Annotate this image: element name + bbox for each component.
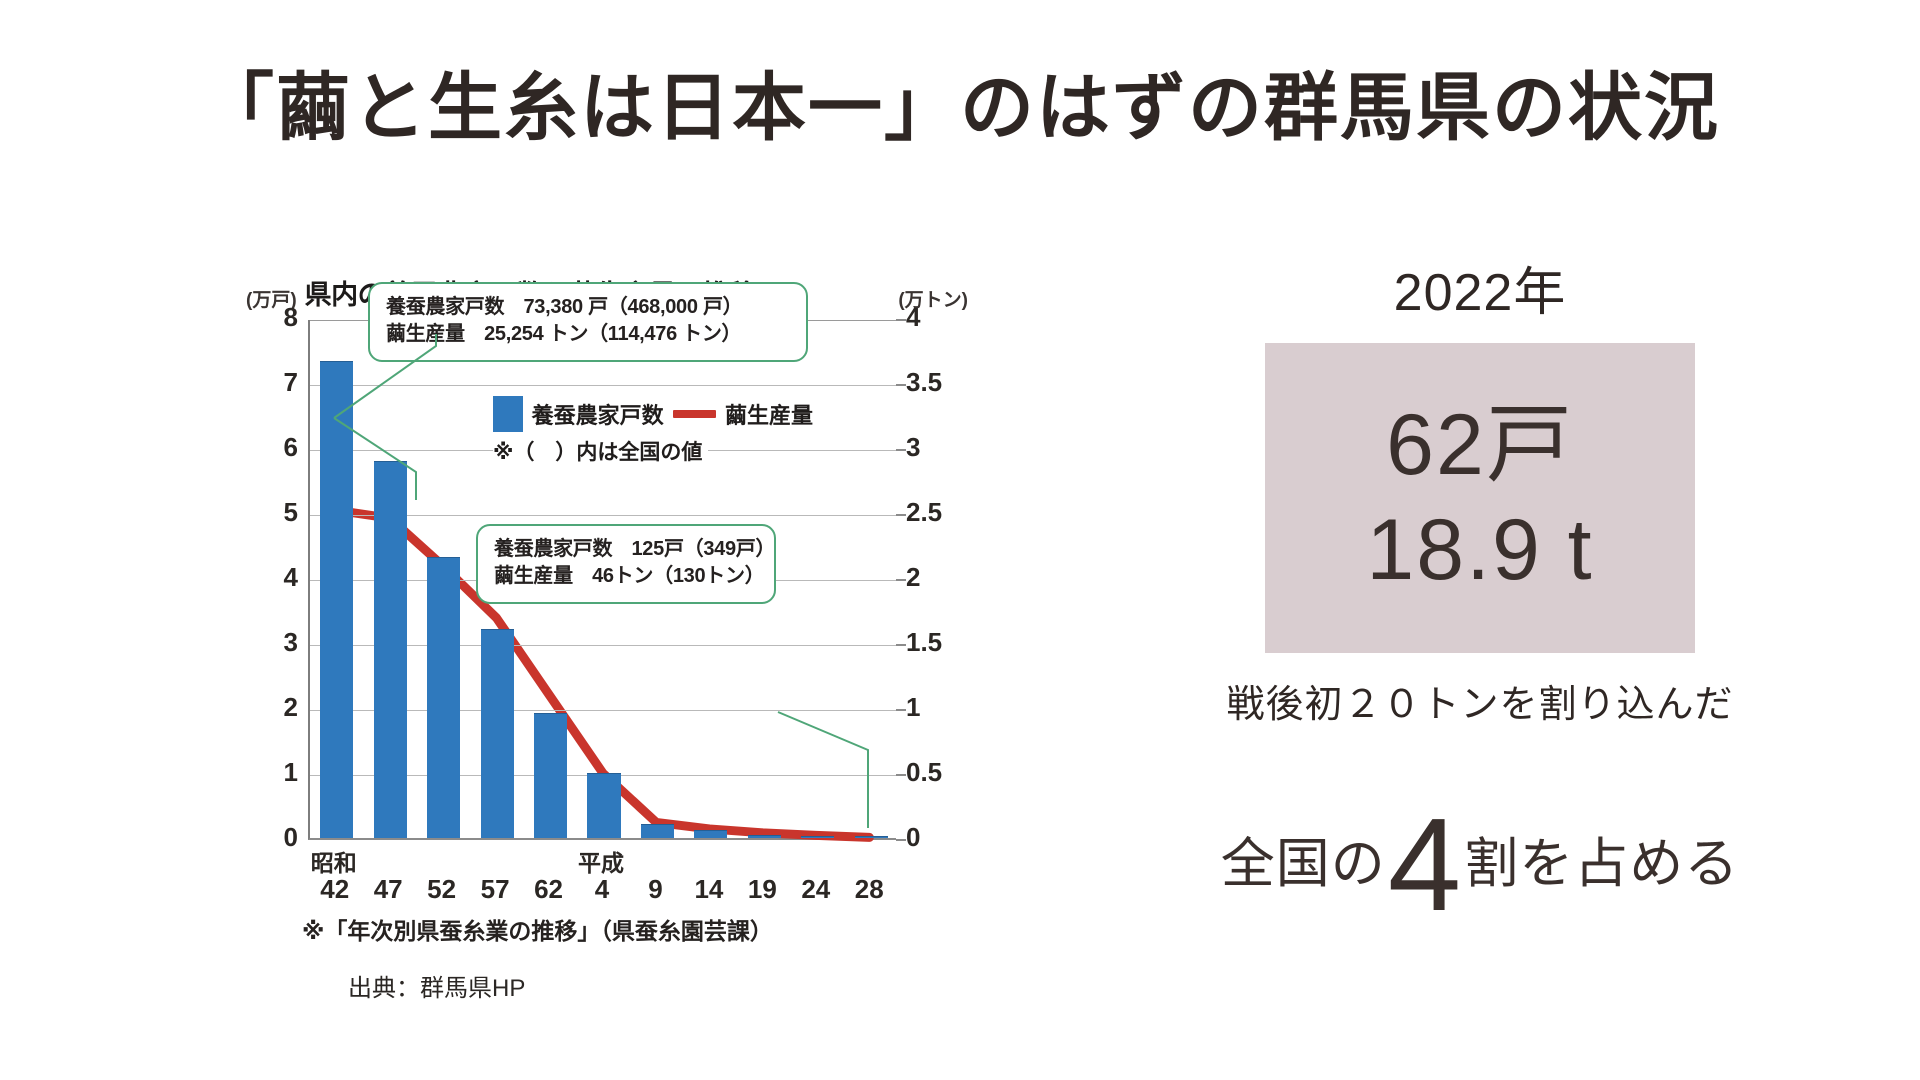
highlight-production: 18.9 t bbox=[1366, 500, 1593, 601]
tick-mark bbox=[896, 579, 906, 581]
tick-mark bbox=[896, 384, 906, 386]
x-axis-tick: 42 bbox=[309, 874, 361, 905]
share-prefix: 全国の bbox=[1221, 819, 1386, 898]
national-share-line: 全国の 4 割を占める bbox=[1120, 806, 1840, 912]
tick-mark bbox=[896, 449, 906, 451]
x-axis-tick: 57 bbox=[469, 874, 521, 905]
y-axis-tick-right: 4 bbox=[906, 302, 966, 333]
callout-label: 養蚕農家戸数 bbox=[386, 294, 504, 321]
x-axis: 42475257624914192428昭和平成 bbox=[308, 844, 896, 914]
tick-mark bbox=[896, 774, 906, 776]
callout-value: 73,380 戸（468,000 戸） bbox=[523, 296, 742, 318]
chart-figure: (万戸) 県内の養蚕農家戸数と繭生産量の推移 (万トン) 01234567800… bbox=[238, 268, 968, 968]
page-title: 「繭と生糸は日本一」のはずの群馬県の状況 bbox=[0, 48, 1920, 155]
y-axis-tick-right: 0.5 bbox=[906, 757, 966, 788]
y-axis-tick-right: 3.5 bbox=[906, 367, 966, 398]
x-axis-tick: 47 bbox=[362, 874, 414, 905]
highlight-households: 62戸 bbox=[1386, 395, 1574, 496]
y-axis-tick-left: 3 bbox=[252, 627, 298, 658]
y-axis-tick-left: 2 bbox=[252, 692, 298, 723]
y-axis-tick-right: 1.5 bbox=[906, 627, 966, 658]
x-axis-tick: 52 bbox=[416, 874, 468, 905]
tick-mark bbox=[896, 319, 906, 321]
share-suffix: 割を占める bbox=[1464, 819, 1739, 898]
y-axis-tick-right: 2.5 bbox=[906, 497, 966, 528]
x-axis-tick: 28 bbox=[843, 874, 895, 905]
y-axis-tick-left: 1 bbox=[252, 757, 298, 788]
callout-row: 養蚕農家戸数 73,380 戸（468,000 戸） bbox=[386, 294, 790, 321]
sub-note: 戦後初２０トンを割り込んだ bbox=[1120, 673, 1840, 728]
y-axis-tick-right: 1 bbox=[906, 692, 966, 723]
summary-panel: 2022年 62戸 18.9 t 戦後初２０トンを割り込んだ 全国の 4 割を占… bbox=[1120, 250, 1840, 912]
tick-mark bbox=[896, 514, 906, 516]
callout-leader-lines bbox=[308, 320, 896, 840]
source-note: 出典：群馬県HP bbox=[348, 968, 525, 1003]
tick-mark bbox=[896, 839, 906, 841]
y-axis-tick-left: 4 bbox=[252, 562, 298, 593]
share-number: 4 bbox=[1388, 812, 1462, 918]
year-label: 2022年 bbox=[1120, 250, 1840, 325]
x-axis-tick: 24 bbox=[790, 874, 842, 905]
x-axis-tick: 14 bbox=[683, 874, 735, 905]
x-axis-tick: 4 bbox=[576, 874, 628, 905]
era-label: 平成 bbox=[578, 844, 624, 878]
x-axis-tick: 62 bbox=[523, 874, 575, 905]
tick-mark bbox=[896, 709, 906, 711]
y-axis-tick-left: 0 bbox=[252, 822, 298, 853]
y-axis-tick-left: 7 bbox=[252, 367, 298, 398]
chart-footnote: ※「年次別県蚕糸業の推移」（県蚕糸園芸課） bbox=[302, 912, 773, 946]
highlight-box: 62戸 18.9 t bbox=[1265, 343, 1695, 653]
y-axis-tick-left: 5 bbox=[252, 497, 298, 528]
tick-mark bbox=[896, 644, 906, 646]
x-axis-tick: 19 bbox=[736, 874, 788, 905]
y-axis-tick-right: 0 bbox=[906, 822, 966, 853]
era-label: 昭和 bbox=[311, 844, 357, 878]
y-axis-tick-left: 8 bbox=[252, 302, 298, 333]
y-axis-tick-left: 6 bbox=[252, 432, 298, 463]
y-axis-tick-right: 3 bbox=[906, 432, 966, 463]
x-axis-tick: 9 bbox=[629, 874, 681, 905]
y-axis-tick-right: 2 bbox=[906, 562, 966, 593]
